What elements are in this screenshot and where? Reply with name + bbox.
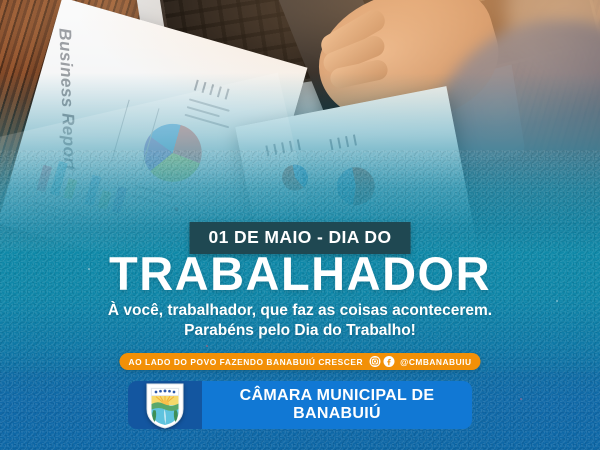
slogan-text: AO LADO DO POVO FAZENDO BANABUIÚ CRESCER <box>128 357 363 367</box>
instagram-icon[interactable] <box>369 356 380 367</box>
subtitle: À você, trabalhador, que faz as coisas a… <box>0 301 600 341</box>
organization-name: CÂMARA MUNICIPAL DE BANABUIÚ <box>240 387 435 422</box>
ceara-coat-of-arms-icon <box>144 381 186 429</box>
subtitle-line-1: À você, trabalhador, que faz as coisas a… <box>0 301 600 321</box>
page-title: TRABALHADOR <box>109 250 491 297</box>
facebook-icon[interactable] <box>383 356 394 367</box>
poster-content: 01 DE MAIO - DIA DO TRABALHADOR À você, … <box>0 0 600 450</box>
subtitle-line-2: Parabéns pelo Dia do Trabalho! <box>0 321 600 341</box>
organization-name-line-1: CÂMARA MUNICIPAL DE <box>240 387 435 405</box>
social-links[interactable] <box>369 356 394 367</box>
identity-bar: CÂMARA MUNICIPAL DE BANABUIÚ <box>128 381 472 429</box>
labor-day-poster: Business Report <box>0 0 600 450</box>
organization-name-line-2: BANABUIÚ <box>240 405 435 423</box>
organization-name-container: CÂMARA MUNICIPAL DE BANABUIÚ <box>202 381 472 429</box>
slogan-bar: AO LADO DO POVO FAZENDO BANABUIÚ CRESCER… <box>119 353 480 370</box>
crest-container <box>128 381 202 429</box>
social-handle[interactable]: @CMBANABUIU <box>400 357 471 367</box>
